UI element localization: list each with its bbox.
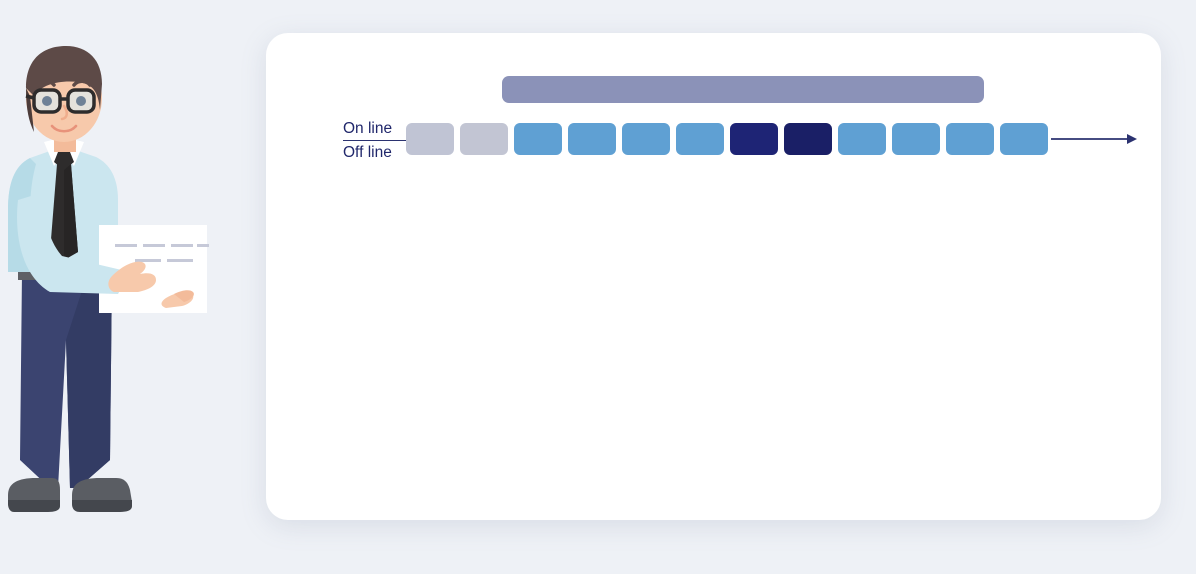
timeline-arrow-icon <box>1051 131 1141 147</box>
timeline-blocks <box>406 122 1054 156</box>
trousers <box>20 272 112 488</box>
timeline-block[interactable] <box>838 123 886 155</box>
axis-label-offline: Off line <box>343 142 413 163</box>
axis-label-online: On line <box>343 118 413 139</box>
timeline-block[interactable] <box>1000 123 1048 155</box>
timeline-block[interactable] <box>676 123 724 155</box>
timeline-block[interactable] <box>730 123 778 155</box>
timeline-block[interactable] <box>460 123 508 155</box>
head <box>26 46 102 142</box>
teacher-illustration <box>0 40 230 520</box>
axis-divider <box>343 140 412 141</box>
timeline-axis-labels: On line Off line <box>343 118 413 163</box>
timeline-block[interactable] <box>892 123 940 155</box>
content-card: On line Off line <box>266 33 1161 520</box>
timeline-block[interactable] <box>946 123 994 155</box>
timeline-block[interactable] <box>514 123 562 155</box>
timeline-block[interactable] <box>406 123 454 155</box>
timeline-block[interactable] <box>568 123 616 155</box>
timeline-chart: On line Off line <box>266 33 1161 520</box>
timeline-block[interactable] <box>784 123 832 155</box>
timeline-block[interactable] <box>622 123 670 155</box>
